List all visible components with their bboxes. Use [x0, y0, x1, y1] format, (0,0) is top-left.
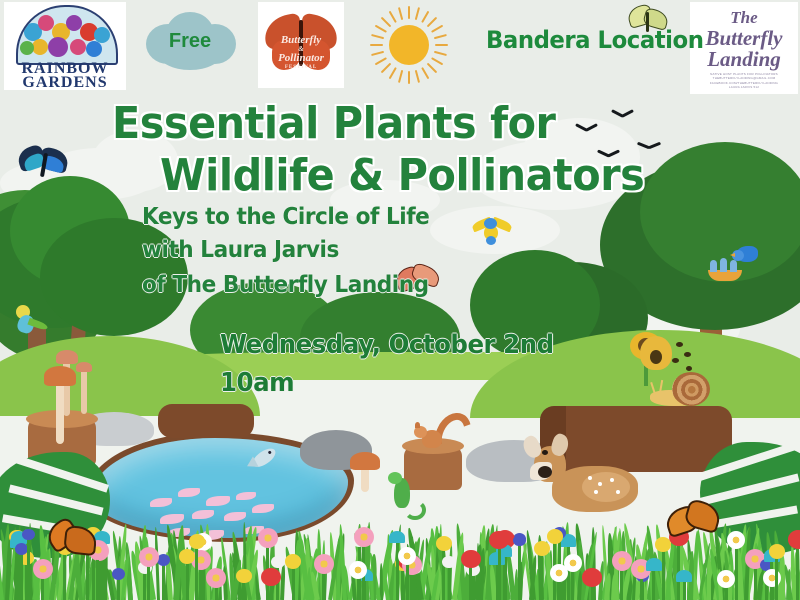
wildflower: [389, 531, 405, 544]
free-badge-label: Free: [169, 30, 211, 53]
wildflower: [271, 556, 285, 569]
wildflower: [547, 529, 563, 544]
event-date: Wednesday, October 2nd: [220, 330, 554, 360]
wildflower: [139, 547, 159, 567]
butterfly-pollinator-festival-logo: Butterfly & Pollinator FESTIVAL: [258, 2, 344, 88]
wildflower: [314, 554, 334, 574]
parakeet-bird-icon: [8, 305, 48, 341]
flower-stem: [652, 566, 655, 600]
flower-stem: [677, 538, 680, 600]
wildflower: [646, 558, 662, 571]
wildflower: [461, 550, 481, 568]
flower-stem: [20, 549, 23, 600]
wildflower: [442, 556, 456, 569]
mushroom-red-cap: [44, 360, 76, 446]
wildflower: [436, 536, 452, 551]
wildflower: [112, 568, 125, 580]
flower-stem: [396, 539, 399, 600]
rainbow-gardens-logo: RAINBOW GARDENS: [4, 2, 126, 90]
wildflower: [769, 544, 785, 559]
flower-stem: [662, 545, 665, 600]
wildflower: [676, 570, 692, 583]
grass-blade: [280, 563, 286, 600]
wildflower: [15, 543, 28, 555]
blue-swallowtail-butterfly-icon: [18, 145, 72, 187]
wildflower: [582, 568, 602, 586]
mushroom-small: [76, 360, 92, 416]
sun-core: [389, 25, 429, 65]
wildflower: [349, 561, 367, 579]
flower-stem: [540, 549, 543, 600]
flower-stem: [775, 552, 778, 600]
wildflower: [788, 530, 800, 548]
page-title-line2: Wildlife & Pollinators: [160, 152, 644, 200]
flower-stem: [518, 541, 521, 600]
flower-stem: [195, 542, 198, 600]
flower-stem: [498, 541, 501, 600]
bluebird-with-nest: [686, 240, 756, 290]
event-time: 10am: [220, 368, 294, 398]
honeybee-hive-icon: [638, 330, 674, 372]
subtitle-line-3: of The Butterfly Landing: [142, 272, 429, 298]
the-butterfly-landing-logo: The Butterfly Landing NATIVE HOST PLANTS…: [690, 2, 798, 94]
page-title-line1: Essential Plants for: [112, 100, 555, 148]
grass-blade: [707, 563, 711, 600]
wildflower: [285, 554, 301, 569]
fawn-deer-icon: [524, 436, 644, 520]
wildflower: [354, 527, 374, 547]
flower-stem: [442, 544, 445, 600]
flower-stem: [448, 563, 451, 600]
wildflower: [763, 569, 781, 587]
rainbow-gardens-floral-mark: [16, 5, 118, 65]
event-poster: RAINBOW GARDENS Free Butterfly & Pollina…: [0, 0, 800, 600]
wildflower: [534, 541, 550, 556]
flower-stem: [735, 540, 738, 600]
squirrel-icon: [410, 412, 460, 456]
log-back: [158, 404, 254, 438]
wildflower: [258, 528, 278, 548]
bpf-line3: Pollinator: [258, 52, 344, 64]
wildflower: [550, 564, 568, 582]
tbl-fine-print: NATIVE HOST PLANTS FOR POLLINATORS THEBU…: [690, 72, 798, 90]
wildflower: [612, 551, 632, 571]
monarch-butterfly-icon-left: [45, 514, 100, 564]
mushroom-path: [350, 452, 380, 492]
rainbow-gardens-line2: GARDENS: [4, 74, 126, 92]
sun-icon: [370, 6, 448, 84]
flower-stem: [162, 560, 165, 600]
subtitle-line-1: Keys to the Circle of Life: [142, 204, 429, 230]
flower-stem: [796, 540, 799, 600]
tbl-line3: Landing: [690, 47, 798, 72]
monarch-butterfly-icon-right: [666, 500, 718, 544]
wildflower: [513, 535, 526, 547]
flying-blue-yellow-bird-icon: [468, 214, 516, 250]
wildflower: [236, 569, 252, 584]
wildflower: [33, 559, 53, 579]
subtitle-line-2: with Laura Jarvis: [142, 237, 339, 263]
bpf-line4: FESTIVAL: [258, 65, 344, 70]
snail-icon: [650, 372, 714, 410]
tbl-line1: The: [690, 8, 798, 28]
flower-stem: [27, 535, 30, 600]
free-badge: Free: [140, 8, 240, 74]
wildflower: [22, 529, 35, 541]
chameleon-icon: [386, 470, 420, 516]
location-label: Bandera Location: [486, 26, 703, 54]
wildflower: [189, 534, 205, 549]
